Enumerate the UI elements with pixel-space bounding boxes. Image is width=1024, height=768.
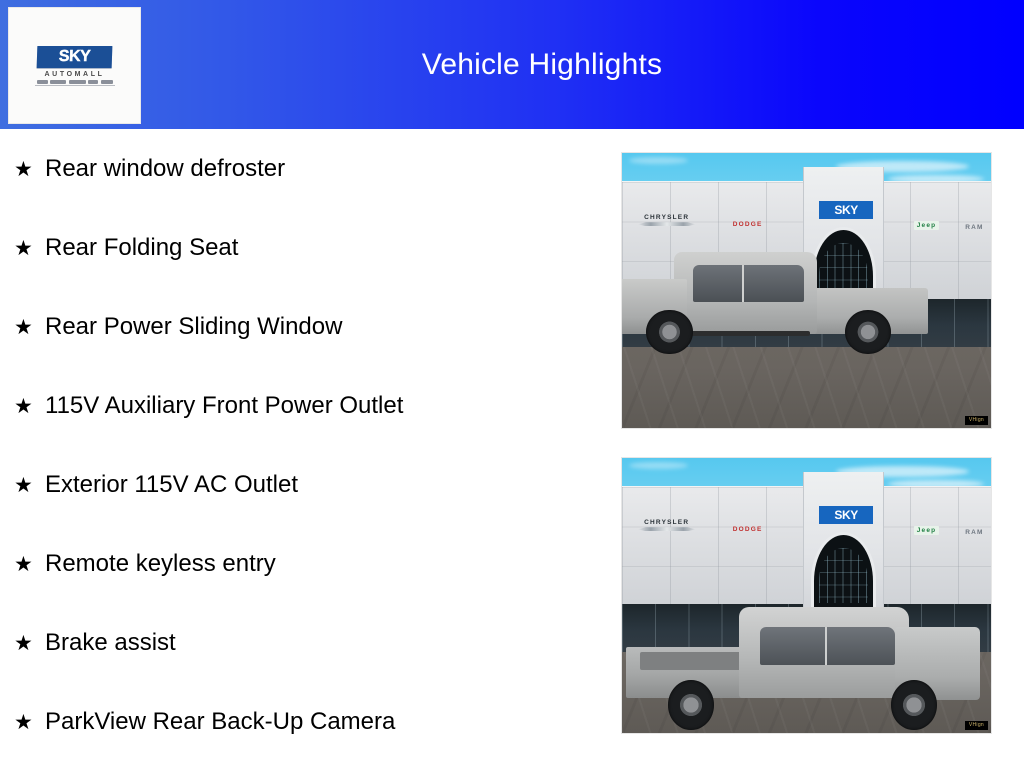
sign-dodge: DODGE bbox=[733, 221, 763, 228]
star-icon: ★ bbox=[14, 317, 45, 338]
sign-jeep: Jeep bbox=[914, 526, 940, 535]
vehicle-photo-side: SKY CHRYSLER DODGE Jeep RAM VHign bbox=[621, 152, 992, 429]
sign-chrysler: CHRYSLER bbox=[644, 519, 689, 526]
sign-sky-label: SKY bbox=[834, 508, 857, 522]
list-item: ★ Remote keyless entry bbox=[0, 551, 600, 630]
list-item-label: Remote keyless entry bbox=[45, 551, 276, 577]
feature-list: ★ Rear window defroster ★ Rear Folding S… bbox=[0, 140, 600, 768]
logo-inner: SKY AUTOMALL bbox=[35, 46, 115, 86]
cloud-icon bbox=[629, 462, 688, 470]
photo-watermark: VHign bbox=[965, 721, 988, 730]
logo-plate: SKY bbox=[37, 46, 113, 68]
list-item: ★ Exterior 115V AC Outlet bbox=[0, 472, 600, 551]
brand-mark-jeep-icon bbox=[88, 80, 98, 84]
photo-watermark: VHign bbox=[965, 416, 988, 425]
logo-brand-strip bbox=[37, 80, 113, 84]
star-icon: ★ bbox=[14, 475, 45, 496]
truck-wheel bbox=[891, 680, 937, 731]
truck-windows bbox=[693, 265, 805, 303]
star-icon: ★ bbox=[14, 396, 45, 417]
list-item-label: Brake assist bbox=[45, 630, 176, 656]
logo-sky-text: SKY bbox=[58, 48, 90, 66]
dealership-building: SKY CHRYSLER DODGE Jeep RAM bbox=[622, 486, 991, 607]
sign-sky-label: SKY bbox=[834, 203, 857, 217]
list-item: ★ 115V Auxiliary Front Power Outlet bbox=[0, 393, 600, 472]
logo-tagline: AUTOMALL bbox=[45, 71, 105, 78]
list-item-label: Exterior 115V AC Outlet bbox=[45, 472, 298, 498]
star-icon: ★ bbox=[14, 633, 45, 654]
truck-rear-quarter-view bbox=[626, 607, 980, 734]
truck-side-view bbox=[621, 252, 928, 357]
truck-windows bbox=[760, 627, 895, 665]
list-item: ★ Rear Power Sliding Window bbox=[0, 314, 600, 393]
sign-chrysler: CHRYSLER bbox=[644, 214, 689, 221]
list-item: ★ Brake assist bbox=[0, 630, 600, 709]
star-icon: ★ bbox=[14, 712, 45, 733]
star-icon: ★ bbox=[14, 554, 45, 575]
list-item-label: Rear Folding Seat bbox=[45, 235, 238, 261]
list-item: ★ ParkView Rear Back-Up Camera bbox=[0, 709, 600, 768]
list-item-label: Rear Power Sliding Window bbox=[45, 314, 342, 340]
truck-wheel bbox=[646, 310, 692, 355]
vehicle-photo-rear-quarter: SKY CHRYSLER DODGE Jeep RAM VHign bbox=[621, 457, 992, 734]
dealer-logo: SKY AUTOMALL bbox=[8, 7, 141, 124]
sign-dodge: DODGE bbox=[733, 526, 763, 533]
brand-mark-fiat-icon bbox=[101, 80, 113, 84]
truck-wheel bbox=[845, 310, 891, 355]
list-item: ★ Rear window defroster bbox=[0, 156, 600, 235]
list-item-label: 115V Auxiliary Front Power Outlet bbox=[45, 393, 403, 419]
list-item: ★ Rear Folding Seat bbox=[0, 235, 600, 314]
logo-divider bbox=[35, 85, 115, 86]
sign-jeep: Jeep bbox=[914, 221, 940, 230]
sign-ram: RAM bbox=[965, 224, 983, 231]
star-icon: ★ bbox=[14, 159, 45, 180]
list-item-label: Rear window defroster bbox=[45, 156, 285, 182]
list-item-label: ParkView Rear Back-Up Camera bbox=[45, 709, 395, 735]
sign-sky: SKY bbox=[819, 506, 873, 524]
brand-mark-ram-icon bbox=[69, 80, 86, 84]
truck-running-board bbox=[680, 331, 810, 335]
slide-header: Vehicle Highlights bbox=[0, 0, 1024, 129]
cloud-icon bbox=[629, 157, 688, 165]
page-title: Vehicle Highlights bbox=[0, 0, 1024, 129]
sign-ram: RAM bbox=[965, 529, 983, 536]
truck-wheel bbox=[668, 680, 714, 731]
star-icon: ★ bbox=[14, 238, 45, 259]
sign-sky: SKY bbox=[819, 201, 873, 219]
brand-mark-chrysler-icon bbox=[37, 80, 48, 84]
vehicle-highlights-slide: Vehicle Highlights SKY AUTOMALL ★ Rear w… bbox=[0, 0, 1024, 768]
brand-mark-dodge-icon bbox=[50, 80, 66, 84]
